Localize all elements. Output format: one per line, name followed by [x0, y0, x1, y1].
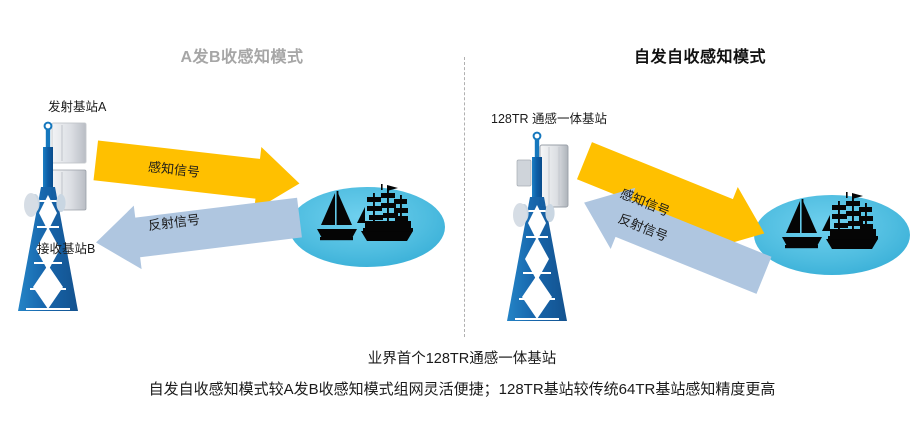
summary-line-1: 业界首个128TR通感一体基站 — [0, 352, 924, 367]
left-ocean-scene — [289, 184, 445, 267]
left-receiver-label: 接收基站B — [37, 243, 95, 256]
right-ocean-scene — [754, 192, 910, 275]
right-station-label: 128TR 通感一体基站 — [491, 113, 607, 126]
summary-line-2: 自发自收感知模式较A发B收感知模式组网灵活便捷；128TR基站较传统64TR基站… — [0, 382, 924, 397]
left-transmitter-label: 发射基站A — [48, 101, 106, 114]
right-integrated-tower — [507, 133, 568, 321]
diagram-canvas: A发B收感知模式 自发自收感知模式 — [0, 0, 924, 430]
left-transmitter-tower — [18, 123, 86, 311]
